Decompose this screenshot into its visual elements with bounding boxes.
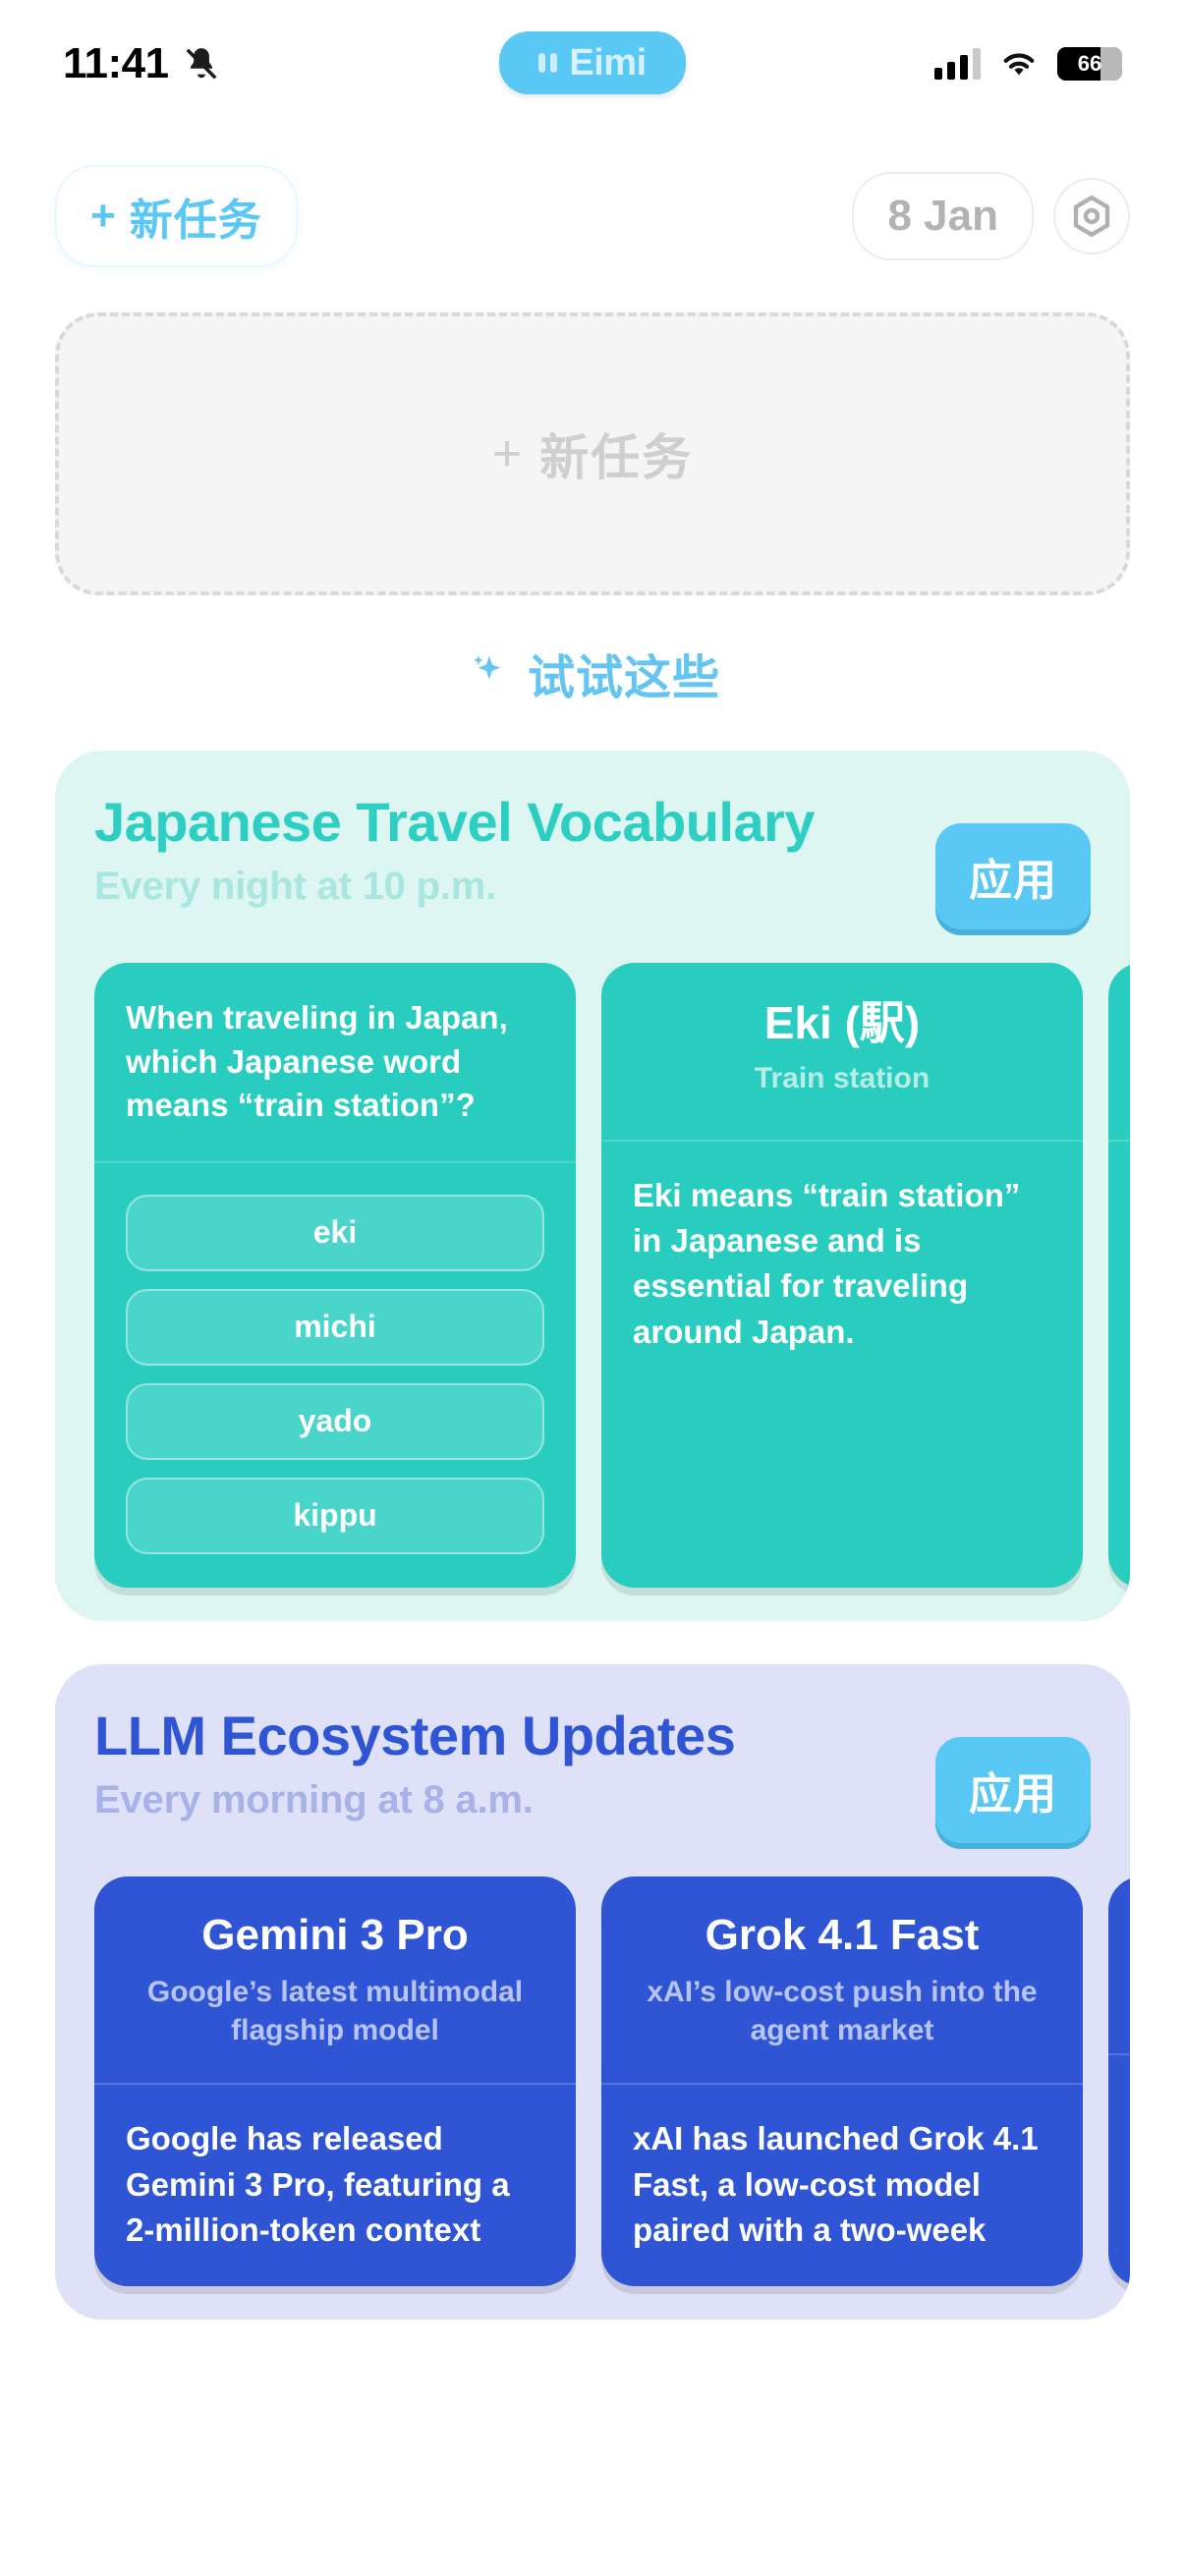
news-title: Gemini 3 Pro (126, 1910, 544, 1962)
settings-button[interactable] (1053, 178, 1130, 254)
news-head-area (1108, 1876, 1130, 2053)
news-head-area: Grok 4.1 Fast xAI’s low-cost push into t… (601, 1876, 1083, 2084)
quiz-question: When traveling in Japan, which Japanese … (126, 996, 544, 1128)
suggestion-header-text: LLM Ecosystem Updates Every morning at 8… (94, 1704, 935, 1822)
dynamic-island-label: Eimi (569, 42, 646, 84)
new-task-label: 新任务 (130, 185, 262, 248)
suggestion-header: Japanese Travel Vocabulary Every night a… (55, 790, 1130, 929)
audio-wave-icon (538, 53, 557, 73)
status-time: 11:41 (63, 39, 169, 88)
suggestion-title: Japanese Travel Vocabulary (94, 790, 920, 855)
status-bar-right: 66 (934, 47, 1122, 81)
suggestion-carousel[interactable]: Gemini 3 Pro Google’s latest multimodal … (55, 1876, 1130, 2286)
try-these-header[interactable]: 试试这些 (0, 639, 1185, 707)
quiz-options-area: eki michi yado kippu (94, 1163, 576, 1588)
status-bar: 11:41 Eimi 66 (0, 0, 1185, 128)
wifi-icon (998, 48, 1040, 80)
suggestion-card-japanese-travel-vocabulary[interactable]: Japanese Travel Vocabulary Every night a… (55, 751, 1130, 1621)
toolbar-right-group: 8 Jan (852, 172, 1130, 260)
suggestion-header: LLM Ecosystem Updates Every morning at 8… (55, 1704, 1130, 1843)
plus-icon: + (492, 428, 522, 479)
status-bar-left: 11:41 (63, 39, 220, 88)
news-subtitle: xAI’s low-cost push into the agent marke… (633, 1973, 1051, 2049)
plus-icon: + (90, 195, 116, 238)
answer-card[interactable]: Eki (駅) Train station Eki means “train s… (601, 963, 1083, 1588)
news-body-area (1108, 2055, 1130, 2286)
sparkle-icon (465, 650, 510, 696)
apply-button[interactable]: 应用 (935, 1737, 1091, 1843)
news-title: Grok 4.1 Fast (633, 1910, 1051, 1962)
quiz-option[interactable]: kippu (126, 1478, 544, 1554)
app-screen: 11:41 Eimi 66 + 新任务 8 Ja (0, 0, 1185, 2576)
new-task-button[interactable]: + 新任务 (55, 165, 298, 267)
dynamic-island[interactable]: Eimi (499, 31, 686, 94)
quiz-options-area (1108, 1142, 1130, 1588)
battery-indicator: 66 (1057, 47, 1122, 81)
news-body: Google has released Gemini 3 Pro, featur… (126, 2116, 544, 2253)
suggestion-schedule: Every morning at 8 a.m. (94, 1778, 920, 1822)
suggestion-card-llm-ecosystem-updates[interactable]: LLM Ecosystem Updates Every morning at 8… (55, 1664, 1130, 2320)
quiz-card[interactable]: When traveling in Japan, which Japanese … (94, 963, 576, 1588)
date-button[interactable]: 8 Jan (852, 172, 1034, 260)
answer-gloss: Train station (633, 1062, 1051, 1095)
quiz-option[interactable]: yado (126, 1383, 544, 1460)
apply-button[interactable]: 应用 (935, 823, 1091, 929)
answer-word-area: Eki (駅) Train station (601, 963, 1083, 1140)
dropzone-label: 新任务 (539, 419, 693, 489)
battery-percent: 66 (1078, 51, 1101, 77)
cellular-bars-icon (934, 48, 981, 80)
quiz-question-area (1108, 963, 1130, 1140)
news-body-area: Google has released Gemini 3 Pro, featur… (94, 2085, 576, 2286)
suggestion-schedule: Every night at 10 p.m. (94, 865, 920, 909)
answer-body: Eki means “train station” in Japanese an… (633, 1173, 1051, 1355)
quiz-options-list: eki michi yado kippu (126, 1195, 544, 1554)
header-toolbar: + 新任务 8 Jan (0, 128, 1185, 267)
news-body-area: xAI has launched Grok 4.1 Fast, a low-co… (601, 2085, 1083, 2286)
news-body: xAI has launched Grok 4.1 Fast, a low-co… (633, 2116, 1051, 2253)
battery-empty (1100, 47, 1122, 81)
quiz-option[interactable]: eki (126, 1195, 544, 1271)
news-card[interactable] (1108, 1876, 1130, 2286)
hexagon-target-icon (1068, 193, 1115, 240)
quiz-option[interactable]: michi (126, 1289, 544, 1366)
try-these-label: 试试这些 (528, 639, 720, 707)
news-card[interactable]: Gemini 3 Pro Google’s latest multimodal … (94, 1876, 576, 2286)
quiz-card[interactable] (1108, 963, 1130, 1588)
suggestion-title: LLM Ecosystem Updates (94, 1704, 920, 1768)
news-head-area: Gemini 3 Pro Google’s latest multimodal … (94, 1876, 576, 2084)
news-card[interactable]: Grok 4.1 Fast xAI’s low-cost push into t… (601, 1876, 1083, 2286)
answer-body-area: Eki means “train station” in Japanese an… (601, 1142, 1083, 1588)
bell-slash-icon (183, 45, 220, 83)
suggestion-header-text: Japanese Travel Vocabulary Every night a… (94, 790, 935, 909)
quiz-question-area: When traveling in Japan, which Japanese … (94, 963, 576, 1161)
suggestion-carousel[interactable]: When traveling in Japan, which Japanese … (55, 963, 1130, 1588)
answer-word: Eki (駅) (633, 996, 1051, 1050)
news-subtitle: Google’s latest multimodal flagship mode… (126, 1973, 544, 2049)
new-task-dropzone[interactable]: + 新任务 (55, 312, 1130, 595)
